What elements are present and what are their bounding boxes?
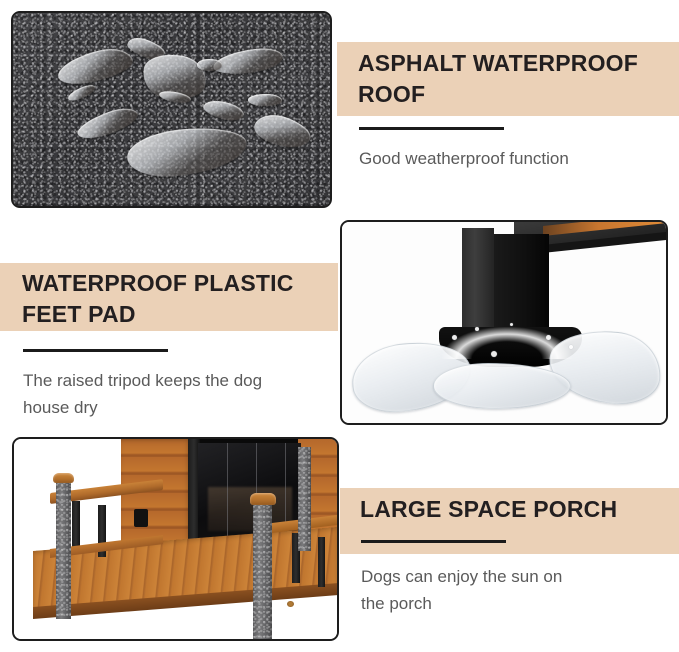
feature-description-waterproof-plastic-feet-pad: The raised tripod keeps the dog house dr… <box>23 367 334 421</box>
feature-title-underline <box>23 349 168 352</box>
feature-title-underline <box>361 540 506 543</box>
asphalt-grain-noise-overlay <box>13 13 330 206</box>
feature-text-waterproof-plastic-feet-pad: WATERPROOF PLASTIC FEET PAD The raised t… <box>22 268 334 421</box>
splash-droplet <box>546 335 551 340</box>
plastic-feet-pad-water-photo: Black plastic foot pad at the base of a … <box>340 220 668 425</box>
water-droplet <box>248 94 283 106</box>
post-cap-front <box>250 493 276 505</box>
feature-infographic-page: Close-up of a dark granular asphalt roof… <box>0 0 679 652</box>
water-splash-crown <box>442 327 572 359</box>
feature-description-large-space-porch: Dogs can enjoy the sun on the porch <box>361 563 668 617</box>
splash-droplet <box>452 335 457 340</box>
feature-title-waterproof-plastic-feet-pad: WATERPROOF PLASTIC FEET PAD <box>22 268 334 330</box>
feature-description-asphalt-waterproof-roof: Good weatherproof function <box>359 145 668 172</box>
corner-post-front <box>253 501 272 639</box>
post-cap-left <box>53 473 74 483</box>
feature-text-large-space-porch: LARGE SPACE PORCH Dogs can enjoy the sun… <box>360 494 668 617</box>
corner-post-left <box>56 479 71 619</box>
feature-text-asphalt-waterproof-roof: ASPHALT WATERPROOF ROOF Good weatherproo… <box>358 48 668 172</box>
water-droplet <box>197 59 222 71</box>
feature-title-asphalt-waterproof-roof: ASPHALT WATERPROOF ROOF <box>358 48 668 110</box>
splash-droplet <box>569 345 573 349</box>
corner-post-rear-right <box>298 447 311 551</box>
asphalt-roof-water-photo: Close-up of a dark granular asphalt roof… <box>11 11 332 208</box>
feature-title-underline <box>359 127 504 130</box>
door-latch <box>134 509 149 527</box>
wooden-porch-photo: Wooden dog house porch deck with slatted… <box>12 437 339 641</box>
splash-droplet <box>475 327 479 331</box>
splash-droplet <box>491 351 497 357</box>
feature-title-large-space-porch: LARGE SPACE PORCH <box>360 494 668 525</box>
railing-baluster <box>318 537 326 587</box>
